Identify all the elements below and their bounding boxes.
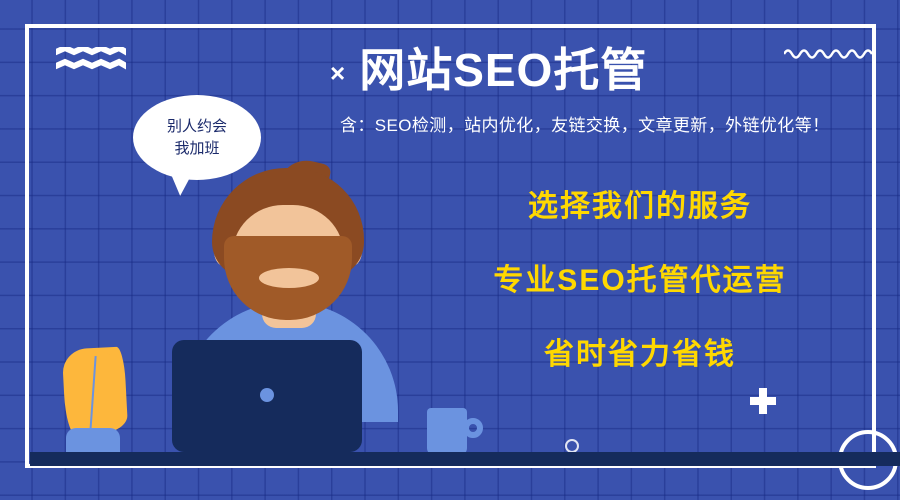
mouth <box>259 268 319 288</box>
speech-bubble-line-2: 我加班 <box>174 138 219 160</box>
seo-promo-banner: × 网站SEO托管 含：SEO检测，站内优化，友链交换，文章更新，外链优化等！ … <box>0 0 900 500</box>
speech-bubble-line-1: 别人约会 <box>167 116 227 138</box>
laptop-logo-dot-icon <box>260 388 274 402</box>
speech-bubble: 别人约会 我加班 <box>133 95 261 180</box>
eye-left <box>245 237 267 244</box>
eye-right <box>311 237 333 244</box>
desk-surface <box>30 452 900 466</box>
coffee-mug <box>427 408 467 456</box>
